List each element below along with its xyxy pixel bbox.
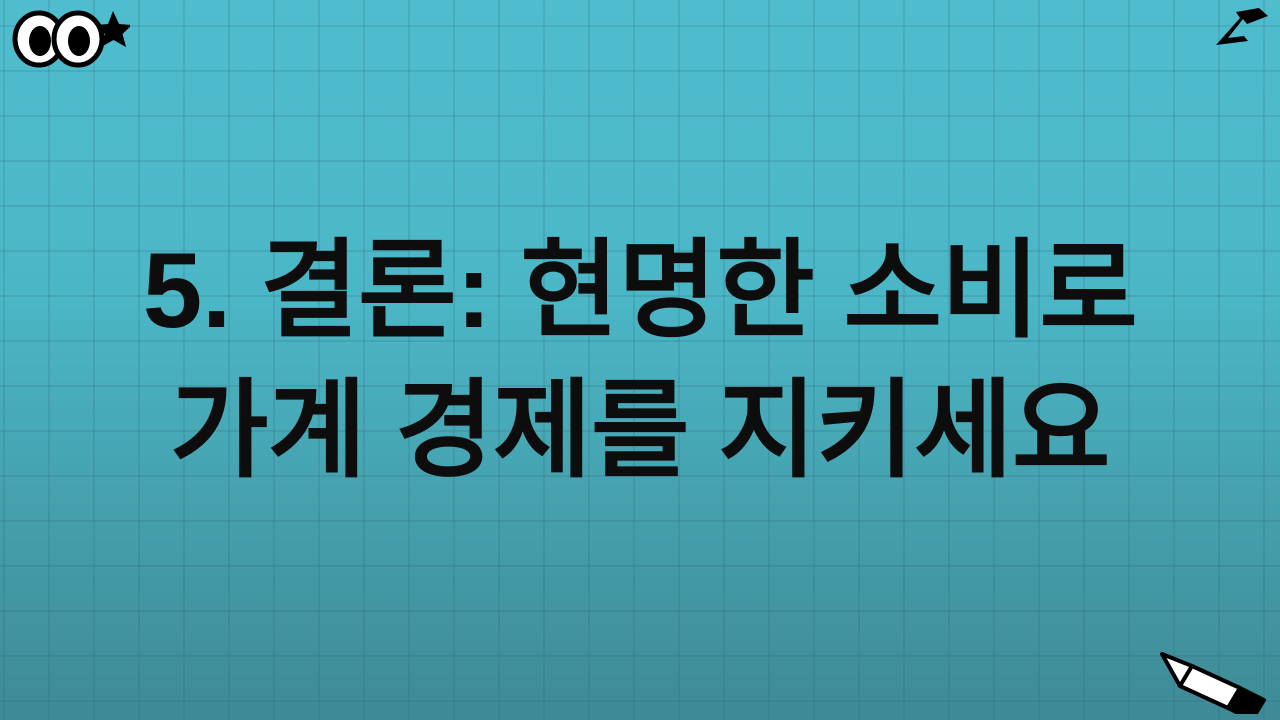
page-title: 5. 결론: 현명한 소비로 가계 경제를 지키세요 [0, 0, 1280, 720]
slide-canvas: 5. 결론: 현명한 소비로 가계 경제를 지키세요 [0, 0, 1280, 720]
title-line-2: 가계 경제를 지키세요 [170, 360, 1110, 500]
title-line-1: 5. 결론: 현명한 소비로 [143, 220, 1138, 360]
